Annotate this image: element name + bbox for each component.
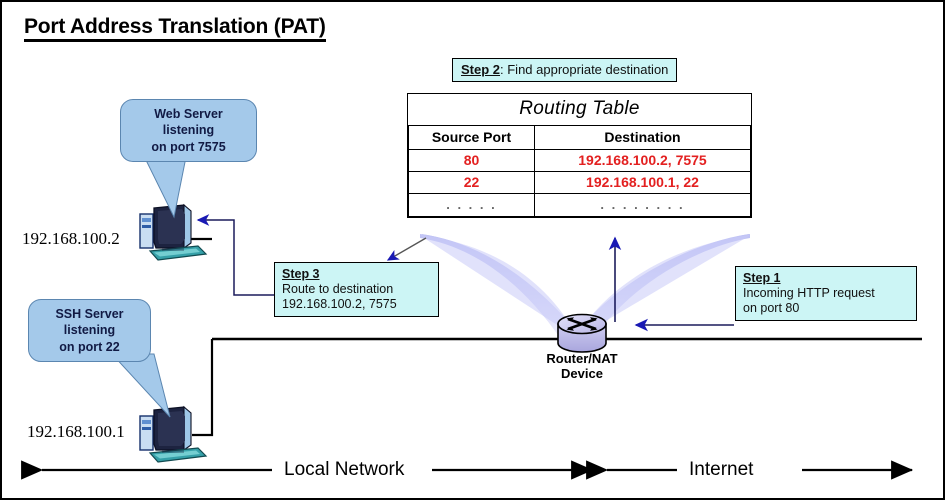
diagram-canvas: Port Address Translation (PAT): [0, 0, 945, 500]
step-2-box: Step 2: Find appropriate destination: [452, 58, 677, 82]
ssh-server-callout-line-3: on port 22: [38, 339, 141, 355]
column-header-source-port: Source Port: [409, 126, 535, 150]
routing-table-header-row: Source Port Destination: [409, 126, 751, 150]
table-row: 22 192.168.100.1, 22: [409, 172, 751, 194]
table-row: . . . . . . . . . . . . .: [409, 194, 751, 217]
step-1-box: Step 1 Incoming HTTP request on port 80: [735, 266, 917, 321]
router-nat-label: Router/NAT Device: [534, 352, 630, 381]
step-2-heading: Step 2: [461, 62, 500, 77]
web-server-callout-line-3: on port 7575: [130, 139, 247, 155]
cell-destination: 192.168.100.2, 7575: [535, 150, 751, 172]
step-1-line-1: Incoming HTTP request: [743, 286, 910, 301]
step3-to-webserver-arrow: [198, 220, 274, 295]
cell-destination: 192.168.100.1, 22: [535, 172, 751, 194]
router-label-line-1: Router/NAT: [534, 352, 630, 367]
router-nat-icon: [558, 315, 606, 353]
ip-label-ssh-server: 192.168.100.1: [27, 422, 125, 442]
cell-source-port: 22: [409, 172, 535, 194]
cell-source-port-ellipsis: . . . . .: [409, 194, 535, 217]
router-label-line-2: Device: [534, 367, 630, 382]
step-1-heading: Step 1: [743, 271, 781, 286]
zone-label-internet: Internet: [683, 459, 759, 481]
step-3-line-2: 192.168.100.2, 7575: [282, 297, 432, 312]
cell-destination-ellipsis: . . . . . . . .: [535, 194, 751, 217]
web-server-callout-line-1: Web Server: [130, 106, 247, 122]
ip-label-web-server: 192.168.100.2: [22, 229, 120, 249]
routing-table-caption: Routing Table: [409, 94, 751, 126]
table-to-step3-arrow: [388, 238, 426, 260]
cell-source-port: 80: [409, 150, 535, 172]
ssh-server-callout-line-2: listening: [38, 322, 141, 338]
step-3-box: Step 3 Route to destination 192.168.100.…: [274, 262, 439, 317]
zone-label-local-network: Local Network: [278, 459, 410, 481]
web-server-callout: Web Server listening on port 7575: [120, 99, 257, 162]
routing-table: Routing Table Source Port Destination 80…: [407, 93, 752, 218]
ssh-server-callout-tail: [112, 354, 170, 417]
table-row: 80 192.168.100.2, 7575: [409, 150, 751, 172]
step-3-heading: Step 3: [282, 267, 320, 282]
ssh-server-callout-line-1: SSH Server: [38, 306, 141, 322]
step-2-text: : Find appropriate destination: [500, 62, 668, 77]
step-3-line-1: Route to destination: [282, 282, 432, 297]
web-server-callout-line-2: listening: [130, 122, 247, 138]
step-1-line-2: on port 80: [743, 301, 910, 316]
ssh-server-callout: SSH Server listening on port 22: [28, 299, 151, 362]
column-header-destination: Destination: [535, 126, 751, 150]
ssh-host-link: [192, 339, 212, 435]
